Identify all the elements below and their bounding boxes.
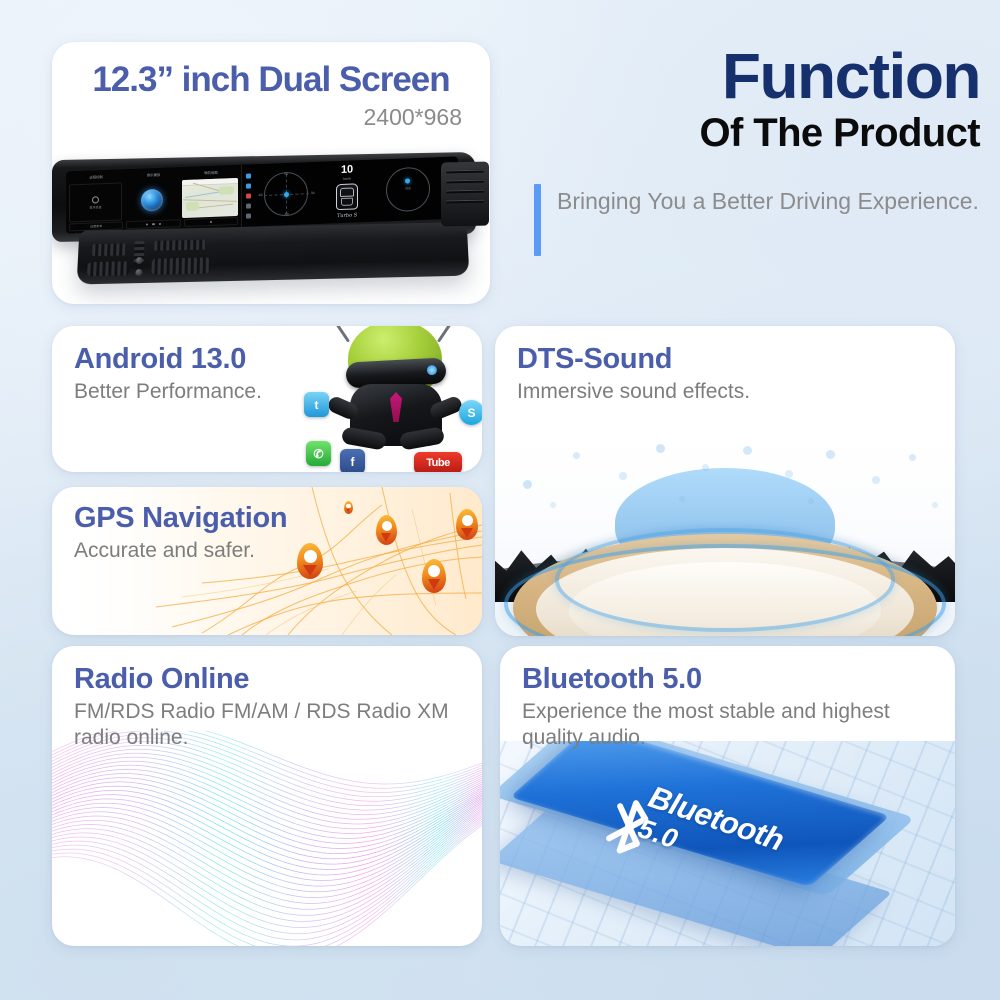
media-orb-icon [141, 189, 163, 212]
dts-speaker-art [495, 436, 955, 636]
page-title: Function [524, 44, 980, 108]
right-air-vent [441, 162, 489, 227]
youtube-icon: Tube [414, 452, 462, 472]
map-park-2 [219, 186, 234, 195]
mute-icon [246, 203, 251, 208]
left-tab-1: 音乐播放 [126, 170, 180, 180]
dts-heading: DTS-Sound [495, 326, 955, 374]
tagline: Bringing You a Better Driving Experience… [557, 184, 979, 256]
warning-icon [246, 193, 251, 198]
map-park-1 [186, 201, 198, 211]
play-icon [152, 223, 155, 226]
left-dial-gauge: 50 -60 30 -60 [256, 167, 317, 221]
bluetooth-tile: 蓝牙连接 [69, 182, 122, 222]
left-tab-0: 远程控制 [69, 172, 123, 182]
facebook-glyph: f [351, 455, 355, 469]
camera-icon [246, 213, 251, 218]
page-subtitle: Of The Product [524, 112, 980, 154]
radio-wave-art [52, 731, 482, 946]
media-orb-tile [125, 180, 179, 220]
left-dial-tick-right: 30 [311, 191, 315, 195]
cluster-layout: 50 -60 30 -60 10 km/h Turbo S [242, 157, 458, 227]
bokeh-10 [909, 454, 916, 461]
gps-heading: GPS Navigation [52, 487, 482, 533]
head-unit-lower-console [77, 222, 470, 285]
left-screen: 远程控制 音乐播放 导航地图 蓝牙连接 [66, 165, 242, 234]
cluster-left-icons [242, 164, 256, 227]
map-pin-4 [422, 559, 446, 593]
next-icon [159, 223, 162, 226]
map-tile-searchbar [182, 178, 238, 186]
title-block: Function Of The Product Bringing You a B… [524, 44, 980, 256]
signal-icon [246, 173, 251, 178]
card-bluetooth: Bluetooth 5.0 Experience the most stable… [500, 646, 955, 946]
left-dial-indicator [284, 192, 289, 197]
dual-screen-heading: 12.3” inch Dual Screen [52, 42, 490, 98]
gps-sub: Accurate and safer. [52, 533, 482, 564]
soundwave-ring-2 [555, 528, 895, 632]
tagline-wrap: Bringing You a Better Driving Experience… [524, 184, 980, 256]
vent-left [92, 243, 126, 256]
left-dial-tick-left: -60 [258, 193, 263, 197]
settings-button-label: 设置菜单 [90, 224, 102, 228]
radio-heading: Radio Online [52, 646, 482, 694]
whatsapp-icon: ✆ [306, 441, 331, 466]
search-icon [210, 221, 213, 224]
vent-center [154, 240, 206, 251]
infographic-stage: 12.3” inch Dual Screen 2400*968 远程控制 音乐播… [0, 0, 1000, 1000]
youtube-glyph: Tube [426, 457, 449, 469]
map-search-button [184, 217, 238, 227]
vent-slat-2 [446, 180, 484, 184]
card-dts: DTS-Sound Immersive sound effects. [495, 326, 955, 636]
speed-unit: km/h [343, 177, 350, 181]
bluetooth-tile-icon [92, 196, 99, 203]
right-cluster-screen: 50 -60 30 -60 10 km/h Turbo S [242, 157, 458, 227]
whatsapp-glyph: ✆ [313, 447, 323, 461]
skype-glyph: S [467, 406, 475, 420]
accent-bar [534, 184, 541, 256]
head-unit-screens: 远程控制 音乐播放 导航地图 蓝牙连接 [66, 157, 458, 234]
android-sub: Better Performance. [52, 374, 482, 405]
left-dial-tick-top: 50 [284, 172, 288, 176]
cluster-center: 10 km/h Turbo S [317, 164, 378, 220]
radio-wave-svg [52, 731, 482, 946]
dts-sub: Immersive sound effects. [495, 374, 955, 405]
vent-slat-1 [446, 170, 484, 174]
speed-value: 10 [341, 165, 353, 176]
vent-lower-center [151, 257, 210, 274]
bokeh-1 [523, 480, 532, 489]
bluetooth-heading: Bluetooth 5.0 [500, 646, 955, 694]
android-heading: Android 13.0 [52, 326, 482, 374]
prev-icon [146, 223, 149, 226]
bluetooth-tile-label: 蓝牙连接 [89, 205, 101, 209]
card-radio: Radio Online FM/RDS Radio FM/AM / RDS Ra… [52, 646, 482, 946]
card-gps: GPS Navigation Accurate and safer. [52, 487, 482, 635]
head-unit-illustration: 远程控制 音乐播放 导航地图 蓝牙连接 [52, 154, 490, 304]
bokeh-4 [656, 444, 665, 453]
vent-slat-3 [446, 190, 484, 194]
bluetooth-sub: Experience the most stable and highest q… [500, 694, 955, 750]
battery-icon [246, 183, 251, 188]
brand-script: Turbo S [337, 212, 357, 219]
facebook-icon: f [340, 449, 365, 472]
card-android: Android 13.0 Better Performance. t S ✆ f… [52, 326, 482, 472]
vent-lower-left [87, 261, 130, 276]
dual-screen-resolution: 2400*968 [52, 98, 490, 131]
right-dial-label: 360 [405, 186, 411, 190]
card-dual-screen: 12.3” inch Dual Screen 2400*968 远程控制 音乐播… [52, 42, 490, 304]
left-tab-2: 导航地图 [184, 168, 238, 178]
left-dial-tick-bottom: -60 [284, 212, 289, 216]
bokeh-14 [932, 502, 938, 508]
vent-slat-4 [446, 200, 484, 204]
bluetooth-chip-art: Bluetooth 5.0 [500, 741, 955, 946]
car-top-view-icon [336, 183, 358, 210]
map-tile [182, 178, 238, 218]
radio-sub: FM/RDS Radio FM/AM / RDS Radio XM radio … [52, 694, 482, 750]
right-dial-gauge: 360 [378, 162, 439, 216]
knob-1[interactable] [135, 269, 142, 276]
